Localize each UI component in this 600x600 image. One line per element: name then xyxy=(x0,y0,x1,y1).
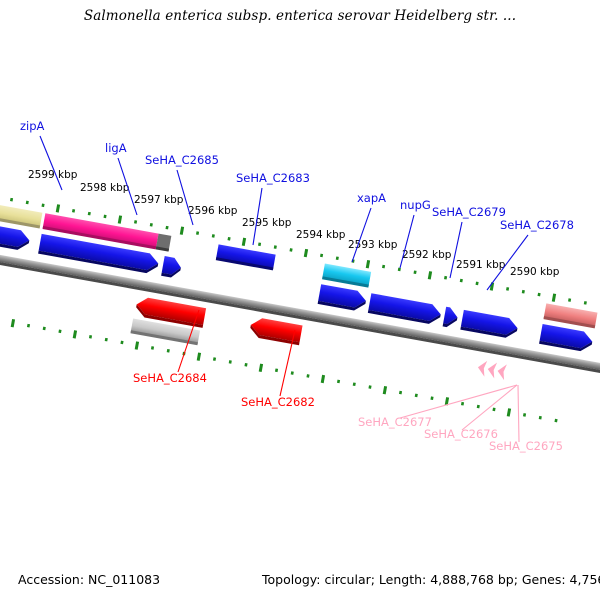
gene-arrow-forward[interactable] xyxy=(443,307,459,329)
ruler-tick-label: 2592 kbp xyxy=(402,249,452,261)
feature-block-salmon[interactable] xyxy=(543,303,597,328)
gene-arrow-forward[interactable] xyxy=(368,293,442,325)
genome-map-canvas[interactable]: 2599 kbp 2598 kbp 2597 kbp 2596 kbp 2595… xyxy=(0,0,600,600)
ruler-tick-label: 2595 kbp xyxy=(242,217,292,229)
chevron-left-icon xyxy=(477,359,488,376)
gene-arrow-forward[interactable] xyxy=(0,223,31,252)
gene-label-SeHA_C2685: SeHA_C2685 xyxy=(145,153,219,167)
leader-line xyxy=(40,136,62,190)
leader-line xyxy=(462,385,517,430)
ruler-tick-label: 2593 kbp xyxy=(348,239,398,251)
gene-label-SeHA_C2676: SeHA_C2676 xyxy=(424,427,498,441)
gene-label-SeHA_C2678: SeHA_C2678 xyxy=(500,218,574,232)
ruler-tick-label: 2598 kbp xyxy=(80,182,130,194)
ruler-tick-label: 2597 kbp xyxy=(134,194,184,206)
gene-arrow-forward[interactable] xyxy=(318,284,368,312)
gene-label-zipA: zipA xyxy=(20,119,45,133)
gene-label-SeHA_C2677: SeHA_C2677 xyxy=(358,415,432,429)
feature-block-cyan[interactable] xyxy=(322,264,371,288)
ruler-tick-label: 2599 kbp xyxy=(28,169,78,181)
ruler-tick-label: 2590 kbp xyxy=(510,266,560,278)
accession-status: Accession: NC_011083 xyxy=(18,572,160,587)
feature-block-blue-mid[interactable] xyxy=(216,244,276,270)
gene-label-SeHA_C2682: SeHA_C2682 xyxy=(241,395,315,409)
gene-label-SeHA_C2684: SeHA_C2684 xyxy=(133,371,207,385)
forward-gene-labels[interactable]: zipA ligA SeHA_C2685 SeHA_C2683 xapA nup… xyxy=(20,119,574,232)
gene-label-xapA: xapA xyxy=(357,191,386,205)
chevron-left-icon xyxy=(486,361,497,378)
faint-feature-chevrons[interactable] xyxy=(477,359,507,380)
ruler-tick-label: 2591 kbp xyxy=(456,259,506,271)
feature-block-yellow[interactable] xyxy=(0,203,42,229)
leader-line xyxy=(518,385,519,442)
leader-line xyxy=(400,385,517,418)
ruler-tick-label: 2596 kbp xyxy=(188,205,238,217)
gene-arrow-forward[interactable] xyxy=(539,324,594,353)
gene-label-SeHA_C2683: SeHA_C2683 xyxy=(236,171,310,185)
genome-stats-status: Topology: circular; Length: 4,888,768 bp… xyxy=(262,572,600,587)
gene-arrow-forward[interactable] xyxy=(460,310,519,340)
gene-label-SeHA_C2675: SeHA_C2675 xyxy=(489,439,563,453)
gene-arrow-forward[interactable] xyxy=(161,256,182,279)
gene-label-nupG: nupG xyxy=(400,198,431,212)
reverse-gene-labels[interactable]: SeHA_C2684 SeHA_C2682 xyxy=(133,371,315,409)
leader-line xyxy=(352,208,371,262)
chevron-left-icon xyxy=(496,363,507,380)
ruler-tick-label: 2594 kbp xyxy=(296,229,346,241)
faint-gene-labels[interactable]: SeHA_C2677 SeHA_C2676 SeHA_C2675 xyxy=(358,415,563,453)
gene-label-ligA: ligA xyxy=(105,141,127,155)
gene-label-SeHA_C2679: SeHA_C2679 xyxy=(432,205,506,219)
genome-map-viewer: Salmonella enterica subsp. enterica sero… xyxy=(0,0,600,600)
